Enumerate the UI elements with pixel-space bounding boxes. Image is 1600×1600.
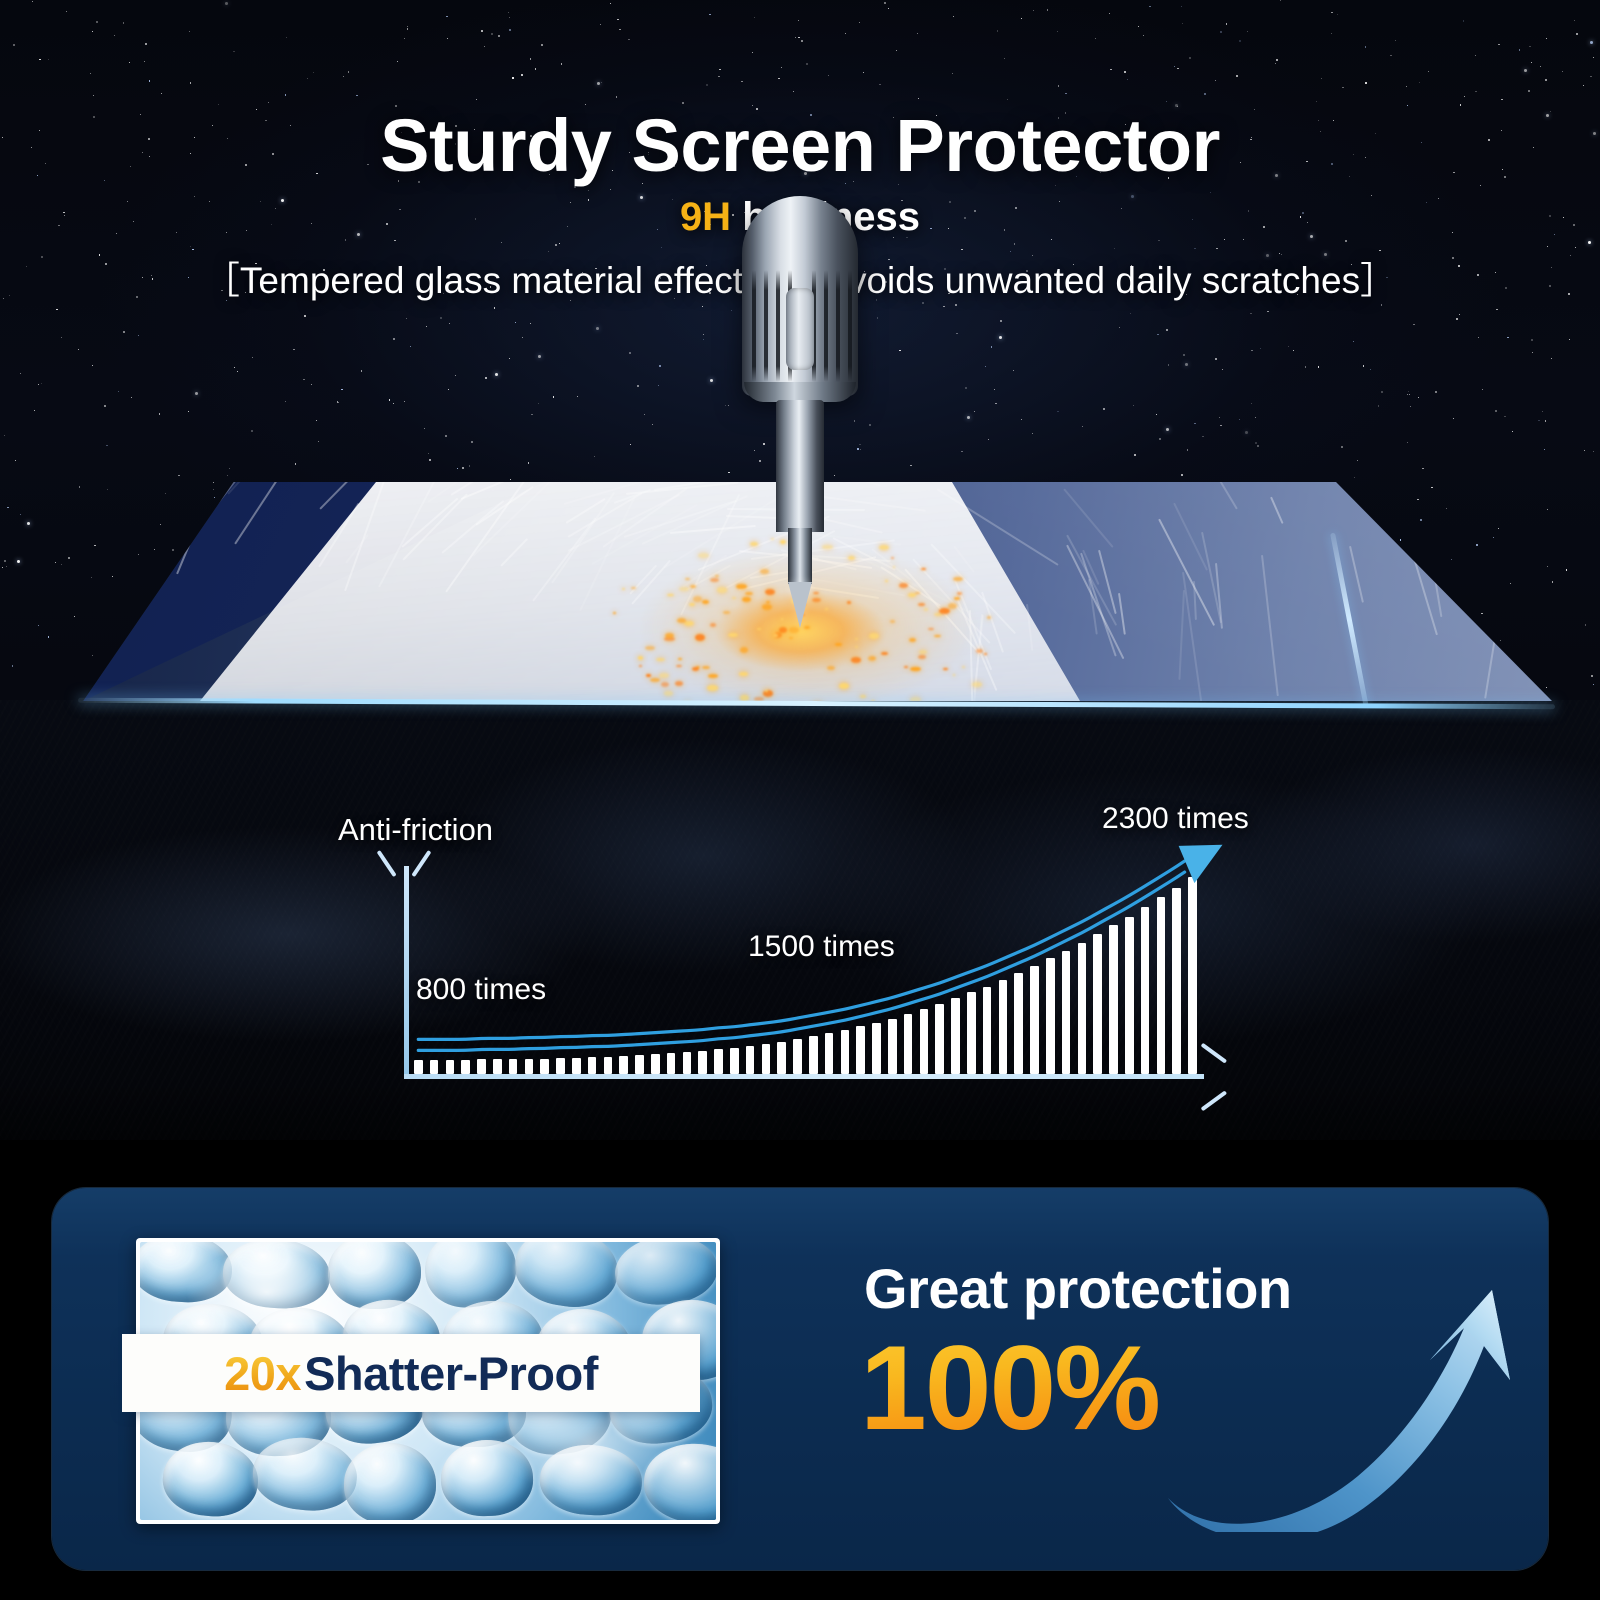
drill-tip bbox=[788, 582, 812, 628]
shatter-proof-badge: 20x Shatter-Proof bbox=[122, 1334, 700, 1412]
drill-center-plate bbox=[786, 288, 814, 370]
hardness-value: 9H bbox=[680, 195, 731, 239]
bubble-wrap-photo-frame: 20x Shatter-Proof bbox=[136, 1238, 720, 1524]
chart-annotation-800: 800 times bbox=[416, 973, 546, 1007]
shatter-proof-multiplier: 20x bbox=[224, 1350, 304, 1397]
drill-collar bbox=[744, 382, 856, 402]
chart-annotation-1500: 1500 times bbox=[748, 930, 895, 964]
curved-up-arrow-icon bbox=[1162, 1280, 1522, 1532]
x-axis-line bbox=[404, 1074, 1204, 1079]
y-axis-line bbox=[404, 866, 409, 1078]
chart-annotation-2300: 2300 times bbox=[1102, 802, 1249, 836]
chart-bars bbox=[414, 870, 1204, 1074]
page-title: Sturdy Screen Protector bbox=[0, 108, 1600, 183]
protection-card: 20x Shatter-Proof Great protection 100% bbox=[52, 1188, 1548, 1570]
protection-percentage: 100% bbox=[860, 1328, 1159, 1448]
chart-y-axis-label: Anti-friction bbox=[338, 812, 493, 848]
drill-shaft bbox=[776, 400, 824, 532]
product-infographic: Sturdy Screen Protector 9H hardness ［Tem… bbox=[0, 0, 1600, 1600]
shatter-proof-label: Shatter-Proof bbox=[304, 1350, 598, 1397]
drill-neck bbox=[788, 528, 812, 584]
drill-bit-icon bbox=[736, 196, 864, 636]
anti-friction-chart: Anti-friction 800 times 1500 times 2300 … bbox=[390, 830, 1250, 1130]
